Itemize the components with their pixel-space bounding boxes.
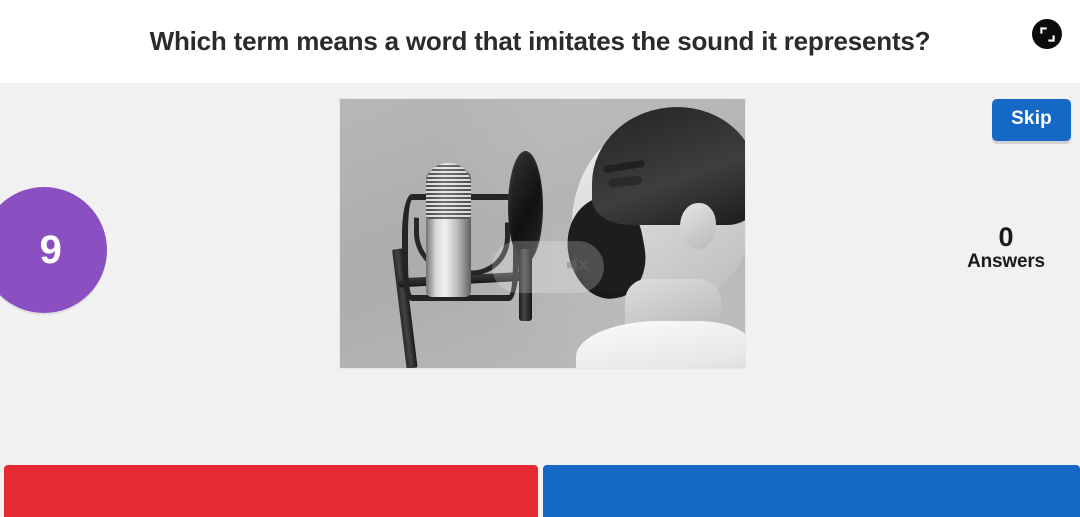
speaker-muted-icon[interactable] bbox=[492, 241, 604, 293]
quiz-stage: 9 Skip 0 Answers bbox=[0, 83, 1080, 517]
quiz-screen: Which term means a word that imitates th… bbox=[0, 0, 1080, 517]
answer-option-onomatopoeia[interactable]: onomatopoeia bbox=[543, 465, 1080, 517]
answer-options: hyperbole onomatopoeia bbox=[0, 465, 1080, 517]
page-title: Which term means a word that imitates th… bbox=[150, 26, 931, 57]
question-photo bbox=[340, 99, 745, 368]
boy-shirt bbox=[576, 321, 745, 368]
fullscreen-expand-icon[interactable] bbox=[1032, 19, 1062, 49]
answers-count-value: 0 bbox=[946, 223, 1066, 251]
answers-counter: 0 Answers bbox=[946, 223, 1066, 273]
answer-option-hyperbole[interactable]: hyperbole bbox=[4, 465, 538, 517]
skip-button[interactable]: Skip bbox=[992, 99, 1071, 141]
question-number-badge: 9 bbox=[0, 187, 107, 313]
microphone-grille bbox=[426, 163, 471, 219]
boy-ear bbox=[680, 203, 716, 249]
question-number-value: 9 bbox=[40, 228, 63, 273]
question-image bbox=[340, 99, 745, 368]
answers-count-label: Answers bbox=[946, 251, 1066, 273]
question-header: Which term means a word that imitates th… bbox=[0, 0, 1080, 83]
